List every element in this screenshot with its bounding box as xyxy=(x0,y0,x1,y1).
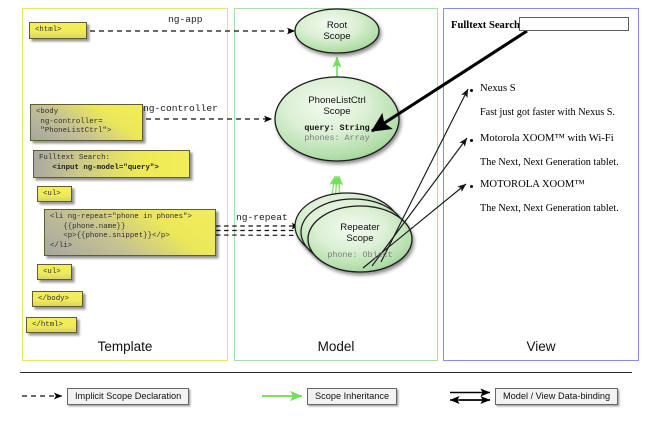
repeater-scope: RepeaterScope phone: Object xyxy=(310,214,410,268)
legend-divider xyxy=(20,372,632,373)
diagram-root: Template Model View xyxy=(0,0,645,425)
view-item-snippet-2: The Next, Next Generation tablet. xyxy=(480,157,619,169)
repeater-scope-title: RepeaterScope xyxy=(340,222,379,245)
root-scope: RootScope xyxy=(295,12,379,50)
list-bullet xyxy=(470,139,473,142)
html-tag-box: <html> xyxy=(29,22,87,39)
view-item-snippet-1: Fast just got faster with Nexus S. xyxy=(480,107,615,119)
search-input-box-label: Fulltext Search: xyxy=(39,154,110,162)
panel-template: Template xyxy=(22,8,228,361)
panel-model-label: Model xyxy=(235,339,437,354)
legend-icon-model-view-data-binding xyxy=(450,393,490,401)
phonelistctrl-scope: PhoneListCtrlScope query: String phones:… xyxy=(275,88,399,150)
view-item-name-3: MOTOROLA XOOM™ xyxy=(480,179,585,191)
ul-close-box: <ul> xyxy=(37,264,72,280)
edge-label-ng-repeat: ng-repeat xyxy=(236,212,288,223)
view-item-name-2: Motorola XOOM™ with Wi-Fi xyxy=(480,133,614,145)
edge-label-ng-app: ng-app xyxy=(168,14,203,25)
li-repeat-box: <li ng-repeat="phone in phones"> {{phone… xyxy=(44,209,216,256)
list-bullet xyxy=(470,185,473,188)
legend-label-implicit-scope-declaration: Implicit Scope Declaration xyxy=(67,388,189,405)
view-search-input[interactable] xyxy=(519,17,629,31)
phonelistctrl-scope-props: query: String phones: Array xyxy=(304,123,369,144)
html-close-box: </html> xyxy=(26,317,77,333)
ul-open-box: <ul> xyxy=(37,186,72,202)
repeater-scope-props: phone: Object xyxy=(327,250,392,261)
body-tag-box: <body ng-controller= "PhoneListCtrl"> xyxy=(30,104,143,141)
legend-label-model-view-data-binding: Model / View Data-binding xyxy=(495,388,618,405)
body-close-box: </body> xyxy=(32,291,83,307)
view-item-snippet-3: The Next, Next Generation tablet. xyxy=(480,203,619,215)
phonelistctrl-scope-title: PhoneListCtrlScope xyxy=(308,95,366,118)
edge-label-ng-controller: ng-controller xyxy=(143,103,218,114)
search-input-box-code: <input ng-model="query"> xyxy=(39,164,159,172)
panel-view-label: View xyxy=(444,339,638,354)
view-item-name-1: Nexus S xyxy=(480,83,516,95)
scope-prop-query: query: String xyxy=(304,123,369,134)
scope-prop-phones: phones: Array xyxy=(304,133,369,144)
search-input-box: Fulltext Search: <input ng-model="query"… xyxy=(33,150,190,178)
panel-model: Model xyxy=(234,8,438,361)
view-search-label: Fulltext Search: xyxy=(451,20,523,31)
legend-label-scope-inheritance: Scope Inheritance xyxy=(307,388,397,405)
scope-prop-phone: phone: Object xyxy=(327,250,392,261)
list-bullet xyxy=(470,89,473,92)
panel-template-label: Template xyxy=(23,339,227,354)
root-scope-title: RootScope xyxy=(323,20,350,43)
